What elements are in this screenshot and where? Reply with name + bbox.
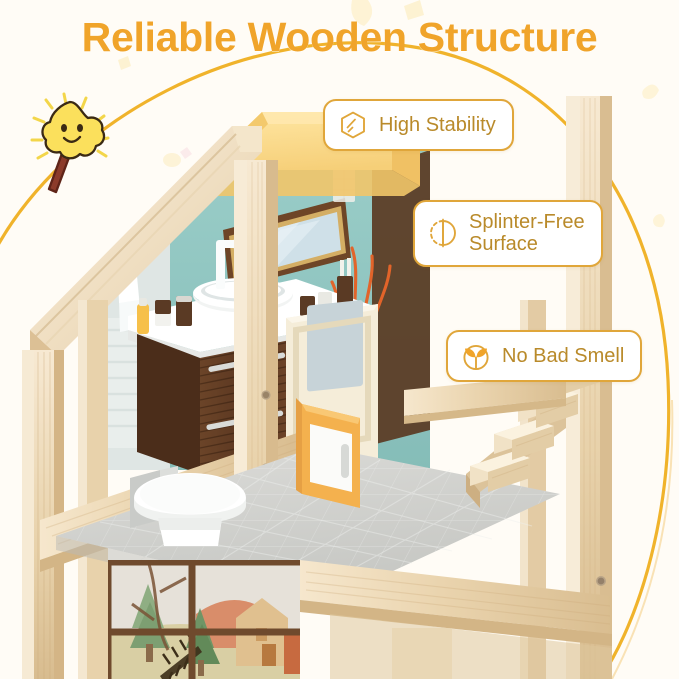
promo-image: Reliable Wooden Structure High Stability… xyxy=(0,0,679,679)
badge-label: No Bad Smell xyxy=(502,345,624,367)
lower-level xyxy=(100,550,312,679)
badge-no-bad-smell[interactable]: No Bad Smell xyxy=(446,330,642,382)
page-title: Reliable Wooden Structure xyxy=(0,14,679,61)
star-shape xyxy=(43,102,104,158)
sprout-circle-icon xyxy=(461,341,491,371)
badge-splinter-free[interactable]: Splinter-Free Surface xyxy=(413,200,603,267)
badge-label: High Stability xyxy=(379,114,496,136)
hexagon-icon xyxy=(338,110,368,140)
smiling-star-wand xyxy=(20,88,124,196)
half-circle-icon xyxy=(428,218,458,248)
badge-high-stability[interactable]: High Stability xyxy=(323,99,514,151)
badge-label: Splinter-Free Surface xyxy=(469,211,585,256)
